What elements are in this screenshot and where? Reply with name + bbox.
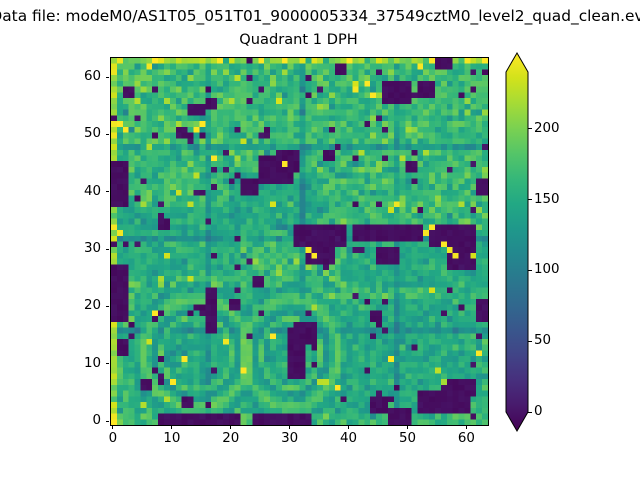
- x-tick-label: 0: [109, 431, 118, 447]
- x-tick-label: 40: [340, 431, 357, 447]
- x-tick-mark: [348, 425, 349, 429]
- y-tick-label: 20: [0, 298, 101, 314]
- y-tick-mark: [106, 77, 110, 78]
- x-tick-mark: [171, 425, 172, 429]
- y-tick-mark: [106, 306, 110, 307]
- figure-suptitle-clip: Data file: modeM0/AS1T05_051T01_90000053…: [0, 5, 640, 29]
- y-tick-mark: [106, 249, 110, 250]
- colorbar-tick-label: 0: [534, 404, 543, 420]
- x-tick-label: 50: [399, 431, 416, 447]
- figure-suptitle: Data file: modeM0/AS1T05_051T01_90000053…: [0, 5, 640, 27]
- x-tick-label: 20: [222, 431, 239, 447]
- x-tick-mark: [466, 425, 467, 429]
- colorbar-tick-mark: [528, 341, 532, 342]
- y-tick-label: 30: [0, 241, 101, 257]
- y-tick-label: 0: [0, 413, 101, 429]
- x-tick-mark: [230, 425, 231, 429]
- y-tick-mark: [106, 134, 110, 135]
- x-tick-label: 30: [281, 431, 298, 447]
- x-tick-mark: [112, 425, 113, 429]
- detector-heatmap-image: [111, 58, 488, 425]
- colorbar-tick-label: 100: [534, 262, 560, 278]
- colorbar-tick-label: 150: [534, 192, 560, 208]
- colorbar-tick-label: 50: [534, 333, 551, 349]
- y-tick-mark: [106, 421, 110, 422]
- y-tick-label: 60: [0, 69, 101, 85]
- y-tick-label: 50: [0, 126, 101, 142]
- y-tick-label: 10: [0, 356, 101, 372]
- colorbar-tick-label: 200: [534, 121, 560, 137]
- colorbar-tick-mark: [528, 128, 532, 129]
- colorbar-tick-mark: [528, 199, 532, 200]
- y-tick-mark: [106, 191, 110, 192]
- colorbar-gradient: [505, 52, 529, 432]
- y-tick-label: 40: [0, 184, 101, 200]
- colorbar-tick-mark: [528, 412, 532, 413]
- heatmap-axes[interactable]: [110, 57, 489, 426]
- axes-title: Quadrant 1 DPH: [110, 30, 487, 50]
- x-tick-label: 60: [458, 431, 475, 447]
- x-tick-mark: [289, 425, 290, 429]
- colorbar-tick-mark: [528, 270, 532, 271]
- x-tick-mark: [407, 425, 408, 429]
- y-tick-mark: [106, 363, 110, 364]
- x-tick-label: 10: [163, 431, 180, 447]
- colorbar[interactable]: [505, 52, 529, 432]
- figure-canvas: Data file: modeM0/AS1T05_051T01_90000053…: [0, 0, 640, 480]
